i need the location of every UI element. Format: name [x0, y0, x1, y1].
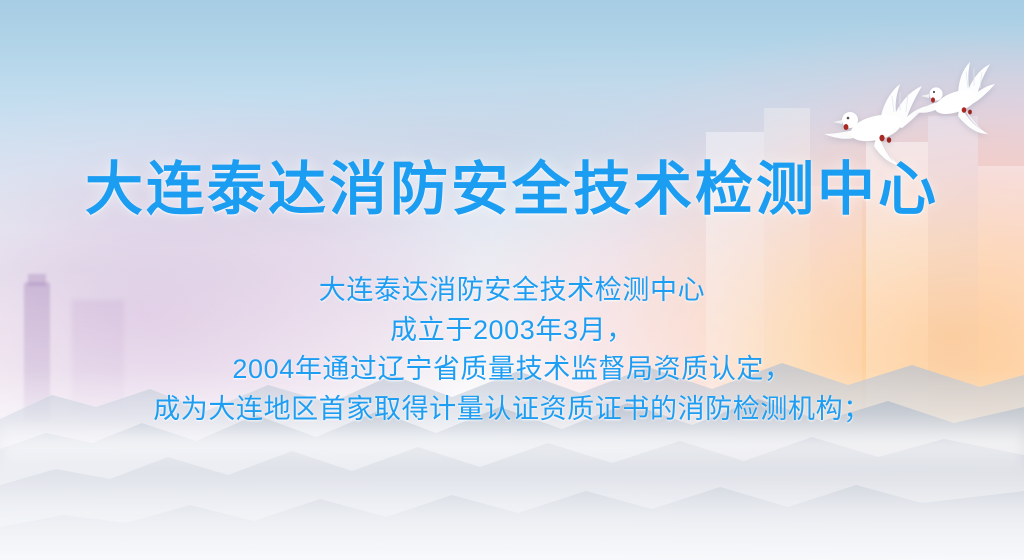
description-line: 2004年通过辽宁省质量技术监督局资质认定， [153, 350, 871, 390]
slide-description: 大连泰达消防安全技术检测中心 成立于2003年3月， 2004年通过辽宁省质量技… [153, 271, 871, 430]
description-line: 成为大连地区首家取得计量认证资质证书的消防检测机构； [153, 390, 871, 430]
slide-canvas: 大连泰达消防安全技术检测中心 大连泰达消防安全技术检测中心 成立于2003年3月… [0, 0, 1024, 560]
slide-content: 大连泰达消防安全技术检测中心 大连泰达消防安全技术检测中心 成立于2003年3月… [0, 0, 1024, 560]
description-line: 大连泰达消防安全技术检测中心 [153, 271, 871, 311]
description-line: 成立于2003年3月， [153, 311, 871, 351]
page-title: 大连泰达消防安全技术检测中心 [85, 160, 939, 221]
